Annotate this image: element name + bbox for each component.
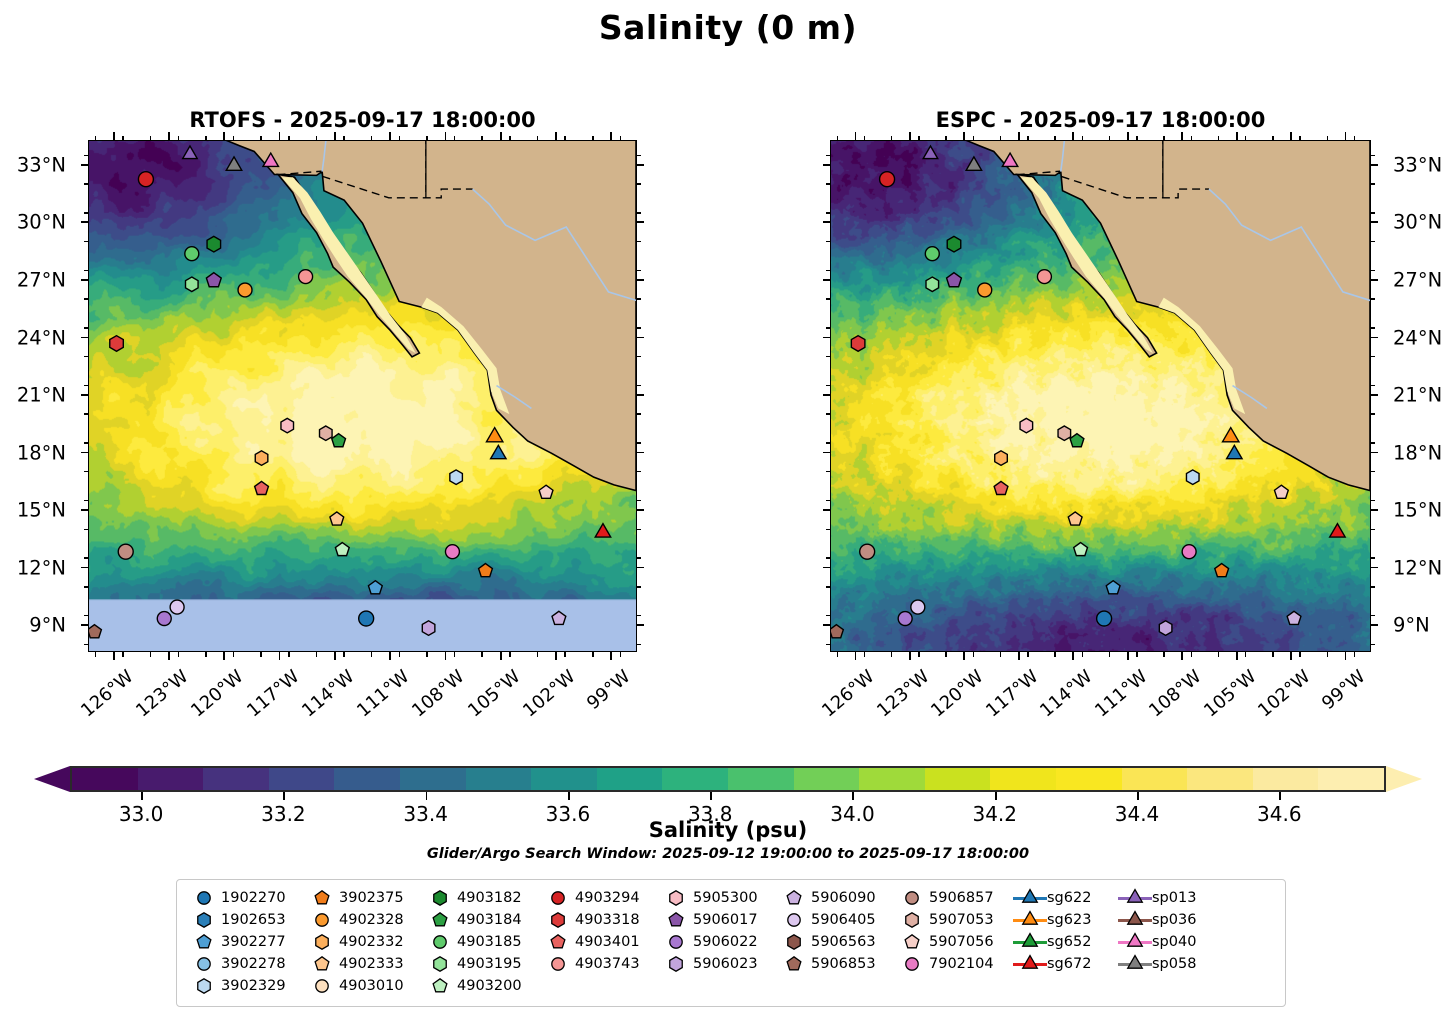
lat-minor-tick xyxy=(637,586,641,588)
legend-glyph-triangle-icon xyxy=(1118,954,1152,974)
legend-item-5907056[interactable]: 5907056 xyxy=(895,932,1013,952)
lon-tick xyxy=(1018,132,1020,140)
legend-marker-4902332 xyxy=(305,932,339,952)
map-canvas-espc[interactable] xyxy=(830,140,1371,652)
legend-glyph-pentagon-icon xyxy=(777,954,811,974)
lon-minor-tick xyxy=(592,136,594,141)
legend-item-3902375[interactable]: 3902375 xyxy=(305,888,423,908)
legend-label: sg652 xyxy=(1047,934,1091,950)
lat-minor-tick xyxy=(1371,212,1375,214)
legend-item-5906405[interactable]: 5906405 xyxy=(777,910,895,930)
lat-minor-tick xyxy=(1371,183,1375,185)
lat-minor-tick xyxy=(637,615,641,617)
legend-glyph-triangle-icon xyxy=(1013,888,1047,908)
lon-minor-tick xyxy=(1082,136,1084,141)
platform-markers-rtofs[interactable] xyxy=(89,141,636,651)
legend-item-4902333[interactable]: 4902333 xyxy=(305,954,423,974)
platform-marker-4903743[interactable] xyxy=(1037,270,1051,284)
platform-marker-sp040[interactable] xyxy=(263,153,278,166)
lat-minor-tick xyxy=(637,155,641,157)
page-title: Salinity (0 m) xyxy=(0,8,1456,47)
lat-minor-tick xyxy=(1371,327,1375,329)
legend-label: sp058 xyxy=(1152,956,1196,972)
legend-glyph-hexagon-icon xyxy=(187,910,221,930)
legend-item-5906090[interactable]: 5906090 xyxy=(777,888,895,908)
legend-item-4903200[interactable]: 4903200 xyxy=(423,976,541,996)
legend-label: 5907053 xyxy=(929,912,994,928)
lon-minor-tick xyxy=(1109,652,1111,657)
platform-marker-4903195[interactable] xyxy=(186,277,199,292)
legend-label: sp040 xyxy=(1152,934,1196,950)
platform-marker-4903200[interactable] xyxy=(335,543,349,556)
lat-minor-tick xyxy=(1371,356,1375,358)
legend-marker-4903401 xyxy=(541,932,575,952)
platform-marker-4903200[interactable] xyxy=(1074,543,1088,556)
legend-marker-sg622 xyxy=(1013,888,1047,908)
lon-tick xyxy=(1345,132,1347,140)
legend-glyph-triangle-icon xyxy=(1013,932,1047,952)
legend-label: 5906023 xyxy=(693,956,758,972)
legend-column-3: 4903294490331849034014903743 xyxy=(541,888,659,996)
colorbar-label: Salinity (psu) xyxy=(0,818,1456,842)
platform-marker-3902329[interactable] xyxy=(450,470,463,485)
lon-tick xyxy=(555,132,557,140)
legend-glyph-pentagon-icon xyxy=(305,954,339,974)
lon-minor-tick xyxy=(343,652,345,657)
platform-marker-sg623[interactable] xyxy=(1223,428,1239,442)
colorbar-band-15 xyxy=(1056,768,1122,790)
lat-minor-tick xyxy=(826,241,830,243)
legend-glyph-circle-icon xyxy=(895,954,929,974)
lat-tick-label: 24°N xyxy=(17,326,66,349)
lon-minor-tick xyxy=(1299,136,1301,141)
legend-label: sg672 xyxy=(1047,956,1091,972)
legend-item-4902332[interactable]: 4902332 xyxy=(305,932,423,952)
colorbar-band-3 xyxy=(269,768,335,790)
platform-marker-3902375[interactable] xyxy=(1215,564,1229,577)
legend-label: 5906017 xyxy=(693,912,758,928)
lat-tick xyxy=(637,624,644,626)
lon-minor-tick xyxy=(426,136,428,141)
lon-minor-tick xyxy=(891,652,893,657)
lon-minor-tick xyxy=(891,136,893,141)
lon-minor-tick xyxy=(178,136,180,141)
lon-tick xyxy=(1290,132,1292,140)
lat-minor-tick xyxy=(84,241,88,243)
platform-marker-4903184[interactable] xyxy=(332,434,346,447)
legend-label: 4903185 xyxy=(457,934,522,950)
lat-minor-tick xyxy=(1371,270,1375,272)
platform-marker-4903185[interactable] xyxy=(185,247,199,261)
lat-tick xyxy=(823,452,830,454)
platform-marker-1902270[interactable] xyxy=(1097,611,1112,626)
colorbar-tick xyxy=(1279,792,1281,800)
lon-minor-tick xyxy=(837,136,839,141)
legend-glyph-hexagon-icon xyxy=(423,888,457,908)
lat-minor-tick xyxy=(637,270,641,272)
platform-marker-sg622[interactable] xyxy=(491,445,506,458)
legend-item-5907053[interactable]: 5907053 xyxy=(895,910,1013,930)
platform-marker-4903294[interactable] xyxy=(880,172,895,187)
colorbar-tick xyxy=(568,792,570,800)
lon-minor-tick xyxy=(1191,652,1193,657)
platform-marker-4903184[interactable] xyxy=(1070,434,1084,447)
lat-minor-tick xyxy=(826,557,830,559)
platform-marker-4903743[interactable] xyxy=(299,270,313,284)
lat-tick xyxy=(823,567,830,569)
lat-tick xyxy=(637,221,644,223)
lat-minor-tick xyxy=(637,356,641,358)
lon-tick xyxy=(855,652,857,660)
legend-label: 5905300 xyxy=(693,890,758,906)
legend-label: 5906853 xyxy=(811,956,876,972)
platform-marker-4902332[interactable] xyxy=(995,451,1008,466)
lon-tick-label: 123°W xyxy=(873,666,933,721)
legend-item-sp058[interactable]: sp058 xyxy=(1118,954,1223,974)
platform-marker-sp013[interactable] xyxy=(923,146,937,159)
colorbar-under-arrow xyxy=(34,766,70,792)
platform-marker-3902277[interactable] xyxy=(1106,581,1120,594)
legend-label: 3902329 xyxy=(221,978,286,994)
lon-minor-tick xyxy=(399,652,401,657)
lat-minor-tick xyxy=(1371,385,1375,387)
legend-glyph-pentagon-icon xyxy=(423,910,457,930)
platform-marker-sp040[interactable] xyxy=(1002,153,1017,166)
platform-marker-5906022[interactable] xyxy=(898,612,912,626)
legend-glyph-hexagon-icon xyxy=(659,888,693,908)
lon-tick-label: 111°W xyxy=(353,666,413,721)
lon-minor-tick xyxy=(1327,652,1329,657)
lon-tick-label: 117°W xyxy=(982,666,1042,721)
legend-item-1902653[interactable]: 1902653 xyxy=(187,910,305,930)
lat-tick xyxy=(637,509,644,511)
lon-minor-tick xyxy=(1082,652,1084,657)
platform-marker-5906017[interactable] xyxy=(947,273,962,287)
lat-tick xyxy=(1371,567,1378,569)
lon-minor-tick xyxy=(205,652,207,657)
legend-item-4903184[interactable]: 4903184 xyxy=(423,910,541,930)
legend-item-4903182[interactable]: 4903182 xyxy=(423,888,541,908)
lon-minor-tick xyxy=(233,652,235,657)
legend-item-3902277[interactable]: 3902277 xyxy=(187,932,305,952)
legend-item-4903743[interactable]: 4903743 xyxy=(541,954,659,974)
legend-label: 4902328 xyxy=(339,912,404,928)
lon-minor-tick xyxy=(426,652,428,657)
legend-label: sp013 xyxy=(1152,890,1196,906)
lon-minor-tick xyxy=(1136,136,1138,141)
lon-minor-tick xyxy=(1272,136,1274,141)
lat-minor-tick xyxy=(84,385,88,387)
colorbar[interactable]: 33.033.233.433.633.834.034.234.434.6 xyxy=(34,766,1422,792)
lon-tick xyxy=(1127,132,1129,140)
legend-item-5906023[interactable]: 5906023 xyxy=(659,954,777,974)
lon-tick-label: 105°W xyxy=(464,666,524,721)
legend-item-sg652[interactable]: sg652 xyxy=(1013,932,1118,952)
lon-tick-label: 126°W xyxy=(77,666,137,721)
lon-tick xyxy=(610,652,612,660)
platform-marker-7902104[interactable] xyxy=(1182,545,1196,559)
platform-marker-3902329[interactable] xyxy=(1186,470,1199,485)
lat-tick xyxy=(81,509,88,511)
lon-tick xyxy=(389,652,391,660)
legend-item-5905300[interactable]: 5905300 xyxy=(659,888,777,908)
lon-tick xyxy=(334,652,336,660)
lon-minor-tick xyxy=(95,652,97,657)
map-canvas-rtofs[interactable] xyxy=(88,140,637,652)
legend-glyph-hexagon-icon xyxy=(305,932,339,952)
lon-minor-tick xyxy=(316,652,318,657)
platform-marker-sg672[interactable] xyxy=(1330,524,1345,537)
lat-minor-tick xyxy=(826,644,830,646)
lon-minor-tick xyxy=(316,136,318,141)
platform-marker-5906090[interactable] xyxy=(1287,611,1301,624)
legend-glyph-pentagon-icon xyxy=(541,932,575,952)
legend-column-1: 39023754902328490233249023334903010 xyxy=(305,888,423,996)
legend-glyph-pentagon-icon xyxy=(423,976,457,996)
lon-minor-tick xyxy=(122,652,124,657)
platform-marker-5906857[interactable] xyxy=(860,544,875,559)
platform-marker-4902333[interactable] xyxy=(330,512,344,525)
lat-minor-tick xyxy=(637,442,641,444)
lat-minor-tick xyxy=(826,270,830,272)
legend-item-sg623[interactable]: sg623 xyxy=(1013,910,1118,930)
legend-item-sg622[interactable]: sg622 xyxy=(1013,888,1118,908)
legend-item-sp040[interactable]: sp040 xyxy=(1118,932,1223,952)
lat-minor-tick xyxy=(637,644,641,646)
lat-tick xyxy=(81,452,88,454)
legend-marker-sg652 xyxy=(1013,932,1047,952)
legend-item-5906017[interactable]: 5906017 xyxy=(659,910,777,930)
lon-tick xyxy=(909,132,911,140)
legend-glyph-circle-icon xyxy=(541,888,575,908)
platform-marker-sg623[interactable] xyxy=(486,428,502,442)
legend-marker-5906023 xyxy=(659,954,693,974)
legend-item-3902329[interactable]: 3902329 xyxy=(187,976,305,996)
legend-item-5906853[interactable]: 5906853 xyxy=(777,954,895,974)
colorbar-band-6 xyxy=(466,768,532,790)
legend-glyph-circle-icon xyxy=(541,954,575,974)
platform-marker-sp058[interactable] xyxy=(966,157,981,170)
lon-minor-tick xyxy=(454,652,456,657)
legend-item-5906563[interactable]: 5906563 xyxy=(777,932,895,952)
lat-tick-label: 9°N xyxy=(1393,614,1430,637)
lat-tick xyxy=(823,221,830,223)
legend-item-4903195[interactable]: 4903195 xyxy=(423,954,541,974)
lat-tick xyxy=(1371,279,1378,281)
platform-marker-3902375[interactable] xyxy=(479,564,493,577)
legend-glyph-hexagon-icon xyxy=(187,976,221,996)
lat-minor-tick xyxy=(84,644,88,646)
platform-marker-5907053[interactable] xyxy=(320,426,333,441)
lon-minor-tick xyxy=(537,652,539,657)
platform-marker-5905300[interactable] xyxy=(281,418,294,433)
colorbar-band-5 xyxy=(400,768,466,790)
platform-marker-5906022[interactable] xyxy=(157,612,171,626)
lon-minor-tick xyxy=(454,136,456,141)
legend-item-1902270[interactable]: 1902270 xyxy=(187,888,305,908)
lat-tick-label: 30°N xyxy=(17,211,66,234)
platform-marker-5906023[interactable] xyxy=(422,621,435,636)
platform-marker-5907056[interactable] xyxy=(1274,485,1288,498)
legend-label: 4903195 xyxy=(457,956,522,972)
platform-marker-5906017[interactable] xyxy=(206,273,221,287)
lon-tick xyxy=(1236,132,1238,140)
lat-tick xyxy=(81,624,88,626)
platform-marker-4903294[interactable] xyxy=(138,172,153,187)
lat-minor-tick xyxy=(637,241,641,243)
lat-minor-tick xyxy=(826,298,830,300)
platform-marker-5907053[interactable] xyxy=(1058,426,1071,441)
platform-marker-sp013[interactable] xyxy=(183,146,197,159)
platform-marker-4903401[interactable] xyxy=(255,481,269,494)
lat-minor-tick xyxy=(84,557,88,559)
platform-marker-4903185[interactable] xyxy=(925,247,939,261)
platform-marker-5906853[interactable] xyxy=(89,625,101,638)
platform-marker-5907056[interactable] xyxy=(539,485,553,498)
lat-minor-tick xyxy=(84,183,88,185)
lat-minor-tick xyxy=(826,471,830,473)
platform-marker-4903182[interactable] xyxy=(207,236,221,252)
legend-label: 5906405 xyxy=(811,912,876,928)
lat-tick xyxy=(637,164,644,166)
lat-minor-tick xyxy=(84,327,88,329)
lat-minor-tick xyxy=(637,500,641,502)
legend-item-4903294[interactable]: 4903294 xyxy=(541,888,659,908)
colorbar-tick xyxy=(710,792,712,800)
lon-minor-tick xyxy=(509,136,511,141)
platform-marker-5906405[interactable] xyxy=(170,600,184,614)
legend-marker-5906857 xyxy=(895,888,929,908)
lat-minor-tick xyxy=(826,385,830,387)
platform-marker-4903318[interactable] xyxy=(851,336,865,352)
legend-label: 3902278 xyxy=(221,956,286,972)
platform-marker-7902104[interactable] xyxy=(445,545,459,559)
legend-glyph-hexagon-icon xyxy=(541,910,575,930)
platform-marker-sg672[interactable] xyxy=(595,524,610,537)
legend-column-2: 49031824903184490318549031954903200 xyxy=(423,888,541,996)
colorbar-band-8 xyxy=(597,768,663,790)
legend-glyph-hexagon-icon xyxy=(659,954,693,974)
lon-tick xyxy=(1072,652,1074,660)
platform-marker-sp058[interactable] xyxy=(226,157,241,170)
legend-item-sg672[interactable]: sg672 xyxy=(1013,954,1118,974)
lat-tick-label: 33°N xyxy=(17,153,66,176)
lat-tick xyxy=(823,164,830,166)
legend-glyph-circle-icon xyxy=(305,976,339,996)
platform-marker-4903401[interactable] xyxy=(994,481,1008,494)
platform-marker-4902328[interactable] xyxy=(978,283,992,297)
lon-tick-label: 111°W xyxy=(1091,666,1151,721)
colorbar-band-17 xyxy=(1187,768,1253,790)
legend-item-4903010[interactable]: 4903010 xyxy=(305,976,423,996)
lon-tick-label: 108°W xyxy=(1145,666,1205,721)
colorbar-band-11 xyxy=(794,768,860,790)
legend-glyph-circle-icon xyxy=(423,932,457,952)
legend-label: 4903182 xyxy=(457,890,522,906)
lon-tick-label: 120°W xyxy=(927,666,987,721)
legend-item-sp036[interactable]: sp036 xyxy=(1118,910,1223,930)
platform-marker-5906023[interactable] xyxy=(1159,621,1172,636)
legend-marker-5906090 xyxy=(777,888,811,908)
legend-glyph-triangle-icon xyxy=(1118,932,1152,952)
lat-tick xyxy=(1371,337,1378,339)
platform-marker-1902270[interactable] xyxy=(359,611,374,626)
lon-minor-tick xyxy=(509,652,511,657)
legend-marker-5907053 xyxy=(895,910,929,930)
platform-marker-4903318[interactable] xyxy=(110,336,124,352)
legend-column-0: 19022701902653390227739022783902329 xyxy=(187,888,305,996)
platform-marker-5905300[interactable] xyxy=(1020,418,1033,433)
lon-tick xyxy=(113,652,115,660)
lon-minor-tick xyxy=(288,136,290,141)
legend-glyph-hexagon-icon xyxy=(777,932,811,952)
lon-tick xyxy=(1127,652,1129,660)
lon-minor-tick xyxy=(371,652,373,657)
lon-minor-tick xyxy=(1027,136,1029,141)
platform-marker-3902277[interactable] xyxy=(368,581,382,594)
lat-tick xyxy=(823,279,830,281)
legend-item-4903185[interactable]: 4903185 xyxy=(423,932,541,952)
lon-minor-tick xyxy=(122,136,124,141)
platform-marker-4902333[interactable] xyxy=(1068,512,1082,525)
platform-marker-4903195[interactable] xyxy=(926,277,939,292)
legend-item-4903318[interactable]: 4903318 xyxy=(541,910,659,930)
lon-tick-label: 123°W xyxy=(132,666,192,721)
platform-legend[interactable]: 1902270190265339022773902278390232939023… xyxy=(176,879,1286,1007)
platform-marker-4902332[interactable] xyxy=(255,451,268,466)
platform-marker-5906857[interactable] xyxy=(118,544,133,559)
platform-marker-5906405[interactable] xyxy=(911,600,925,614)
legend-item-5906857[interactable]: 5906857 xyxy=(895,888,1013,908)
legend-label: sg623 xyxy=(1047,912,1091,928)
lat-minor-tick xyxy=(637,327,641,329)
lon-tick xyxy=(279,132,281,140)
platform-markers-espc[interactable] xyxy=(831,141,1370,651)
lat-tick xyxy=(823,624,830,626)
colorbar-tick xyxy=(283,792,285,800)
legend-marker-5906017 xyxy=(659,910,693,930)
legend-label: sg622 xyxy=(1047,890,1091,906)
legend-label: 5906857 xyxy=(929,890,994,906)
legend-item-5906022[interactable]: 5906022 xyxy=(659,932,777,952)
lat-minor-tick xyxy=(84,442,88,444)
legend-item-sp013[interactable]: sp013 xyxy=(1118,888,1223,908)
lon-tick xyxy=(1236,652,1238,660)
lon-tick-label: 105°W xyxy=(1200,666,1260,721)
platform-marker-5906853[interactable] xyxy=(831,625,843,638)
lat-minor-tick xyxy=(1371,442,1375,444)
platform-marker-4902328[interactable] xyxy=(238,283,252,297)
legend-column-4: 5905300590601759060225906023 xyxy=(659,888,777,996)
lon-tick xyxy=(223,132,225,140)
platform-marker-sg622[interactable] xyxy=(1227,445,1242,458)
colorbar-tick xyxy=(852,792,854,800)
lon-minor-tick xyxy=(233,136,235,141)
legend-item-4902328[interactable]: 4902328 xyxy=(305,910,423,930)
legend-marker-5906022 xyxy=(659,932,693,952)
legend-item-4903401[interactable]: 4903401 xyxy=(541,932,659,952)
lon-minor-tick xyxy=(973,136,975,141)
platform-marker-5906090[interactable] xyxy=(552,611,566,624)
lon-tick xyxy=(1018,652,1020,660)
legend-marker-4903184 xyxy=(423,910,457,930)
legend-item-3902278[interactable]: 3902278 xyxy=(187,954,305,974)
legend-item-7902104[interactable]: 7902104 xyxy=(895,954,1013,974)
legend-marker-4902328 xyxy=(305,910,339,930)
lat-minor-tick xyxy=(1371,615,1375,617)
lat-minor-tick xyxy=(826,586,830,588)
platform-marker-4903182[interactable] xyxy=(947,236,961,252)
